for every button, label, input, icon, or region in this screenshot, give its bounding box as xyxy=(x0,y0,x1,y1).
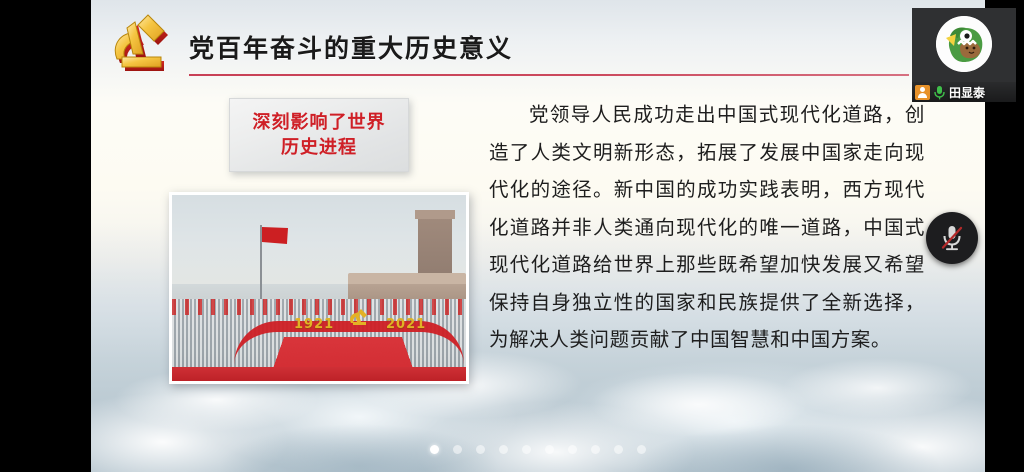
letterbox-bar-left xyxy=(0,0,91,472)
participant-name: 田显泰 xyxy=(949,84,985,101)
photo-flag-row xyxy=(172,299,466,315)
video-participant-tile[interactable]: 田显泰 xyxy=(912,8,1016,102)
photo-red-flag xyxy=(262,227,288,244)
photo-year-left: 1921 xyxy=(294,317,334,332)
pagination-dot[interactable] xyxy=(568,445,577,454)
ceremony-photo: 1921 2021 xyxy=(169,192,469,384)
pagination-dot[interactable] xyxy=(430,445,439,454)
party-emblem-icon xyxy=(105,11,177,77)
callout-line-2: 历史进程 xyxy=(281,135,357,160)
slide-pagination-dots[interactable] xyxy=(91,445,985,454)
slide-title: 党百年奋斗的重大历史意义 xyxy=(189,29,513,65)
avatar xyxy=(936,16,992,72)
callout-line-1: 深刻影响了世界 xyxy=(253,110,386,135)
screen-root: 党百年奋斗的重大历史意义 深刻影响了世界 历史进程 1921 2021 xyxy=(0,0,1024,472)
person-icon xyxy=(915,85,930,100)
photo-year-right: 2021 xyxy=(386,317,426,332)
title-divider-rule xyxy=(189,74,909,76)
slide-body-paragraph: 党领导人民成功走出中国式现代化道路，创造了人类文明新形态，拓展了发展中国家走向现… xyxy=(489,96,925,359)
pagination-dot[interactable] xyxy=(637,445,646,454)
presentation-slide[interactable]: 党百年奋斗的重大历史意义 深刻影响了世界 历史进程 1921 2021 xyxy=(91,0,985,472)
pagination-dot[interactable] xyxy=(499,445,508,454)
pagination-dot[interactable] xyxy=(522,445,531,454)
photo-party-emblem-icon xyxy=(348,307,370,329)
pagination-dot[interactable] xyxy=(545,445,554,454)
microphone-icon xyxy=(933,85,946,100)
photo-carpet-edge xyxy=(172,367,466,381)
mute-microphone-button[interactable] xyxy=(926,212,978,264)
tile-footer: 田显泰 xyxy=(912,82,1016,102)
pagination-dot[interactable] xyxy=(453,445,462,454)
pagination-dot[interactable] xyxy=(614,445,623,454)
highlight-callout-box: 深刻影响了世界 历史进程 xyxy=(229,98,409,172)
pagination-dot[interactable] xyxy=(591,445,600,454)
pagination-dot[interactable] xyxy=(476,445,485,454)
microphone-muted-icon xyxy=(939,223,965,253)
